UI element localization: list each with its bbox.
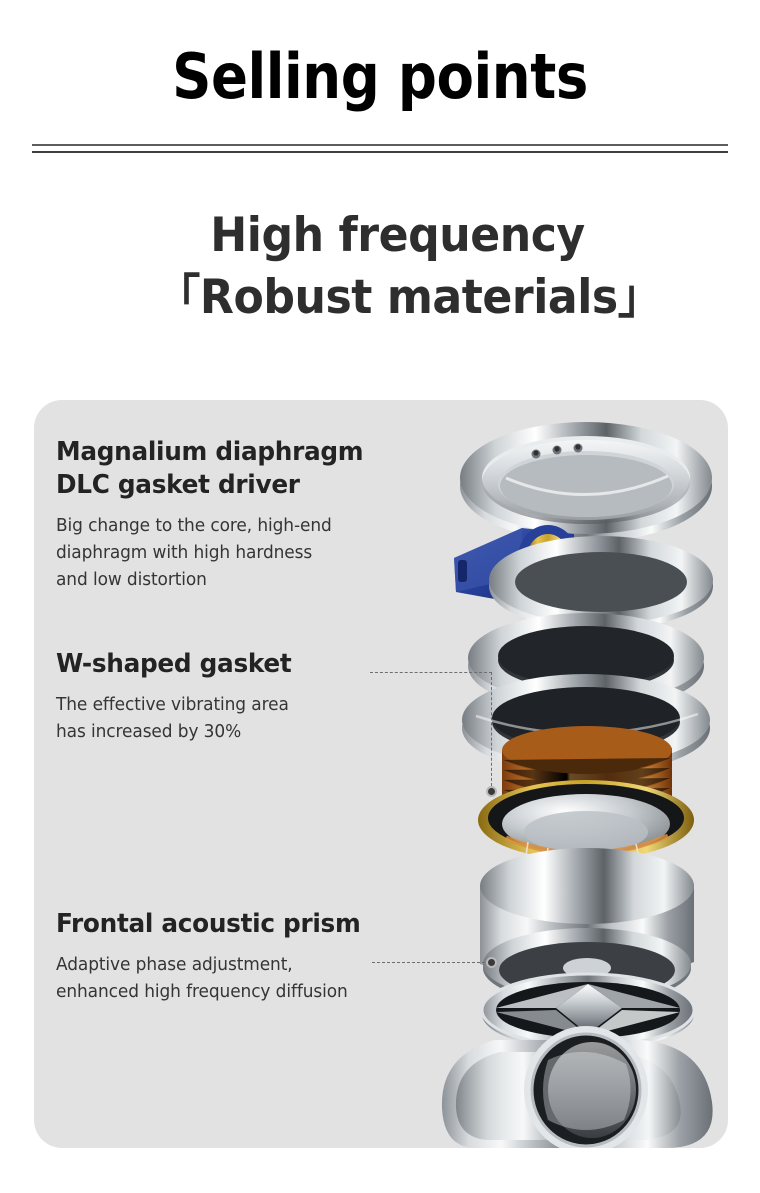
feature-body-line-2: enhanced high frequency diffusion xyxy=(56,979,473,1006)
feature-body: The effective vibrating area has increas… xyxy=(56,692,473,746)
feature-body-line-3: and low distortion xyxy=(56,567,473,594)
feature-body-line-1: Adaptive phase adjustment, xyxy=(56,952,473,979)
title-divider xyxy=(32,144,728,153)
divider-line-top xyxy=(32,144,728,146)
subheading-lines: High frequency 「Robust materials」 xyxy=(96,205,716,329)
subheading-block: High frequency 「Robust materials」 xyxy=(0,205,760,365)
feature-body-line-2: has increased by 30% xyxy=(56,719,473,746)
page-title: Selling points xyxy=(46,40,715,114)
feature-w-shaped-gasket: W-shaped gasket The effective vibrating … xyxy=(56,648,486,746)
divider-line-bottom xyxy=(32,151,728,153)
feature-body-line-1: Big change to the core, high-end xyxy=(56,513,473,540)
feature-magnalium-diaphragm: Magnalium diaphragm DLC gasket driver Bi… xyxy=(56,436,486,594)
feature-title-line-2: DLC gasket driver xyxy=(56,469,473,502)
chrome-barrel-housing xyxy=(442,1026,713,1148)
feature-title-line-1: W-shaped gasket xyxy=(56,648,473,681)
feature-body-line-1: The effective vibrating area xyxy=(56,692,473,719)
chrome-faceplate-shell xyxy=(460,422,712,542)
feature-body: Big change to the core, high-end diaphra… xyxy=(56,513,473,594)
subheading-line-1: High frequency xyxy=(115,205,698,267)
feature-card: Magnalium diaphragm DLC gasket driver Bi… xyxy=(34,400,728,1148)
feature-title-line-1: Frontal acoustic prism xyxy=(56,908,473,941)
subheading-line-2: 「Robust materials」 xyxy=(115,267,698,329)
feature-body: Adaptive phase adjustment, enhanced high… xyxy=(56,952,473,1006)
feature-frontal-acoustic-prism: Frontal acoustic prism Adaptive phase ad… xyxy=(56,908,486,1006)
feature-title-line-1: Magnalium diaphragm xyxy=(56,436,473,469)
feature-body-line-2: diaphragm with high hardness xyxy=(56,540,473,567)
